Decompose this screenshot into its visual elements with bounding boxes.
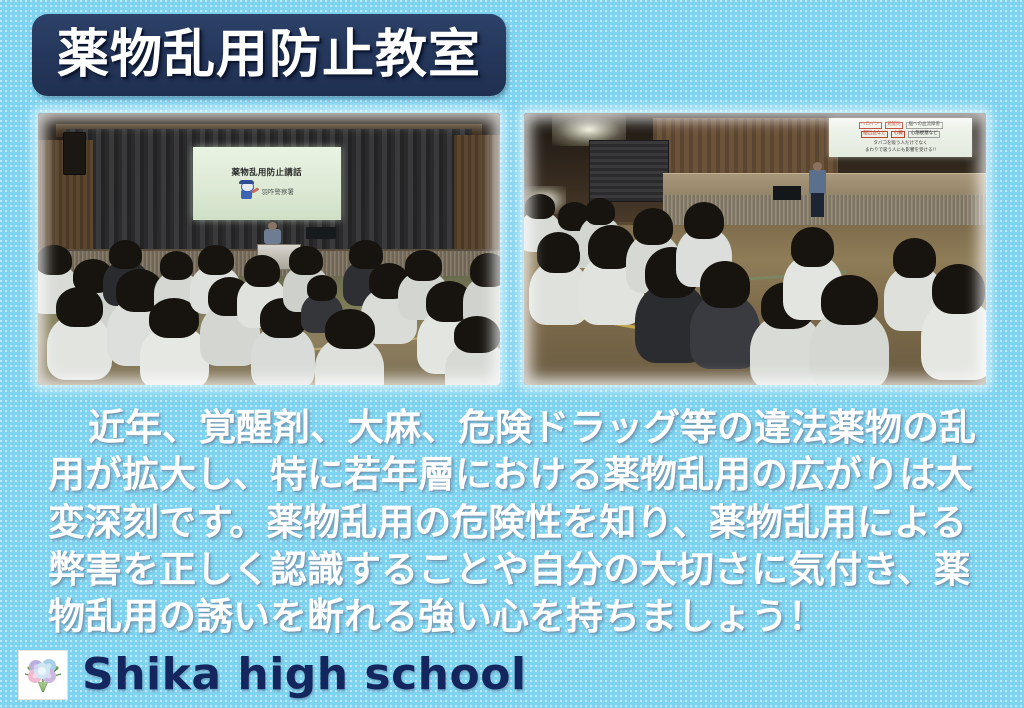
photo-row: 薬物乱用防止講話 羽咋警察署 (38, 113, 986, 385)
stacked-equipment (589, 140, 670, 202)
student (47, 314, 112, 379)
slide-chip: 脳への血流障害 (906, 122, 943, 130)
footer: Shika high school (18, 650, 527, 700)
slide-chip: ヘロイン (859, 122, 882, 130)
projection-screen-right: ヘロイン 覚醒剤 脳への血流障害 脳出血など 心臓 心筋梗塞など タバコを吸う人… (829, 118, 972, 156)
poster-root: 薬物乱用防止教室 薬物乱用防止講話 (0, 0, 1024, 708)
student (690, 293, 759, 369)
slide-title: 薬物乱用防止講話 (231, 166, 301, 178)
right-photo: ヘロイン 覚醒剤 脳への血流障害 脳出血など 心臓 心筋梗塞など タバコを吸う人… (524, 113, 986, 385)
slide-line: タバコを吸う人だけでなく (874, 140, 928, 146)
slide-chip-row: ヘロイン 覚醒剤 脳への血流障害 (859, 122, 943, 130)
school-name: Shika high school (82, 653, 527, 697)
wood-panel-right (454, 135, 500, 255)
student (810, 309, 889, 385)
right-photo-image: ヘロイン 覚醒剤 脳への血流障害 脳出血など 心臓 心筋梗塞など タバコを吸う人… (524, 113, 986, 385)
slide-line: まわりで吸う人にも影響を受ける!! (865, 147, 936, 153)
slide-body: 羽咋警察署 (239, 181, 294, 201)
flower-bouquet-icon (22, 654, 64, 696)
projection-screen-left: 薬物乱用防止講話 羽咋警察署 (193, 147, 341, 220)
police-mascot-icon (239, 181, 255, 201)
student (921, 298, 986, 380)
laptop-right (773, 186, 801, 200)
slide-subtitle: 羽咋警察署 (261, 186, 294, 196)
slide-chip: 覚醒剤 (885, 122, 904, 130)
gym-scene-right: ヘロイン 覚醒剤 脳への血流障害 脳出血など 心臓 心筋梗塞など タバコを吸う人… (524, 113, 986, 385)
speaker-icon (63, 132, 86, 175)
laptop-left (306, 227, 336, 239)
page-title: 薬物乱用防止教室 (57, 29, 481, 81)
slide-chip: 脳出血など (861, 131, 889, 139)
police-officer (806, 162, 829, 216)
slide-chip: 心臓 (891, 131, 905, 139)
body-paragraph: 近年、覚醒剤、大麻、危険ドラッグ等の違法薬物の乱用が拡大し、特に若年層における薬… (48, 404, 984, 641)
slide-chip: 心筋梗塞など (908, 131, 940, 139)
left-photo: 薬物乱用防止講話 羽咋警察署 (38, 113, 500, 385)
student (251, 325, 316, 385)
student (140, 325, 209, 385)
school-logo (18, 650, 68, 700)
left-photo-image: 薬物乱用防止講話 羽咋警察署 (38, 113, 500, 385)
slide-chip-row: 脳出血など 心臓 心筋梗塞など (861, 131, 941, 139)
gym-scene-left: 薬物乱用防止講話 羽咋警察署 (38, 113, 500, 385)
title-banner: 薬物乱用防止教室 (32, 14, 506, 96)
